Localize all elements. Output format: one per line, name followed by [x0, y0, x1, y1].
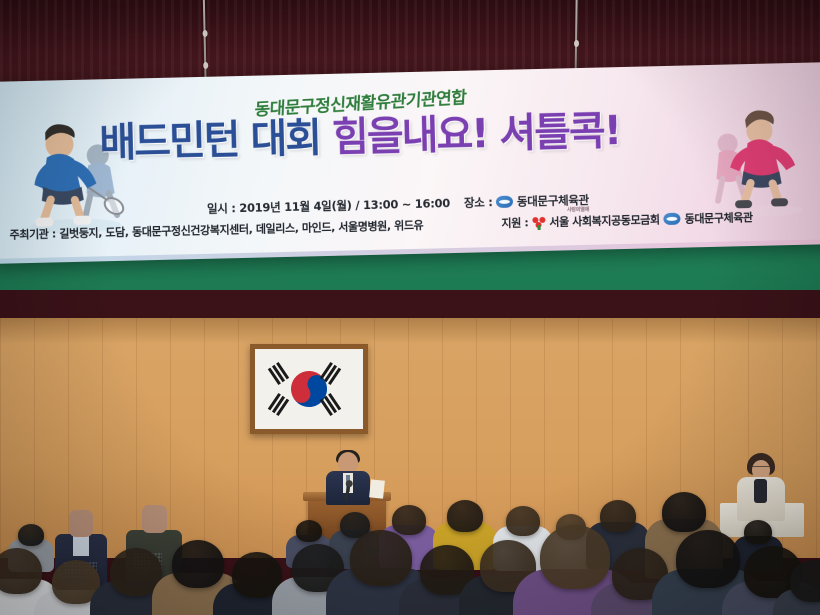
glasses-icon: [752, 466, 770, 471]
banner-date-label: 일시 :: [207, 201, 236, 216]
standing-man-left-shirt: [73, 536, 89, 556]
fruit-of-love-heart-icon: [532, 215, 545, 228]
gym-logo-icon: [664, 213, 681, 225]
banner-date-value: 2019년 11월 4일(월) / 13:00 ~ 16:00: [239, 196, 450, 215]
taegukgi-flag: [255, 349, 363, 429]
gym-logo-icon: [496, 196, 513, 208]
audience-head: [350, 530, 412, 586]
banner-main-title: 배드민턴 대회 힘을내요! 셔틀콕!: [99, 111, 620, 163]
korean-flag-frame: [250, 344, 368, 434]
audience-head: [744, 520, 772, 544]
banner-support-org1: 서울 사회복지공동모금회: [549, 213, 660, 229]
speech-paper: [369, 479, 385, 498]
speaker-at-podium: [326, 452, 370, 504]
audience-head: [506, 506, 540, 536]
audience-head: [447, 500, 483, 532]
banner-place-label: 장소 :: [464, 195, 493, 210]
trigram-gon-icon: [320, 393, 341, 416]
banner-title-part2: 힘을내요! 셔틀콕!: [332, 108, 621, 161]
audience-head: [676, 530, 740, 588]
trigram-ri-icon: [268, 393, 289, 416]
standing-man-right-pixelated-face: [142, 505, 167, 533]
banner-support-org1-sub: 사랑의열매: [567, 206, 589, 214]
standing-man-left-pixelated-face: [69, 510, 93, 537]
audience-head: [662, 492, 706, 532]
banner-date-block: 일시 : 2019년 11월 4일(월) / 13:00 ~ 16:00: [207, 195, 450, 217]
audience-head: [296, 520, 322, 542]
audience-head: [172, 540, 224, 588]
audience-head: [0, 548, 42, 594]
event-banner: 동대문구정신재활유관기관연합 배드민턴 대회 힘을내요! 셔틀콕! 일시 : 2…: [0, 62, 820, 264]
audience-head: [18, 524, 44, 546]
banner-host-label: 주최기관 :: [9, 227, 56, 241]
wall-top-shadow: [0, 318, 820, 344]
banner-support-label: 지원 :: [501, 214, 528, 231]
banner-title-part1: 배드민턴 대회: [99, 115, 321, 166]
audience-head: [600, 500, 636, 532]
trigram-geon-icon: [268, 362, 289, 385]
banner-support-org2: 동대문구체육관: [684, 209, 752, 227]
hostess-at-table: [733, 453, 789, 525]
hostess-inner-top: [754, 479, 767, 503]
audience-head: [392, 505, 426, 535]
audience-head: [540, 525, 610, 589]
photo-scene: 동대문구정신재활유관기관연합 배드민턴 대회 힘을내요! 셔틀콕! 일시 : 2…: [0, 0, 820, 615]
